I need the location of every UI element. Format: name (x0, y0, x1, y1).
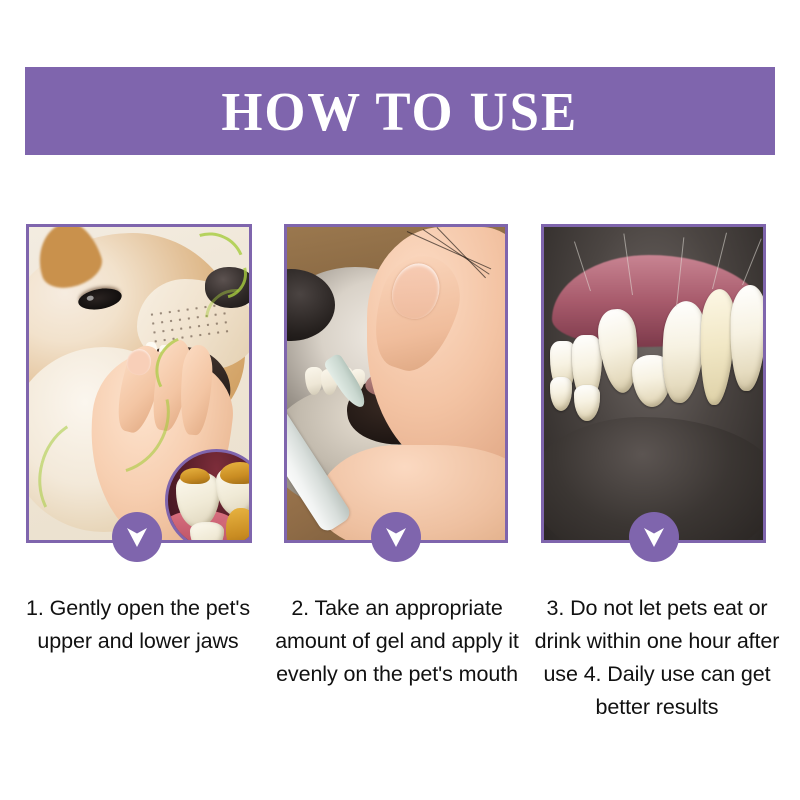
inset-tartar (220, 462, 249, 484)
chevron-down-icon (124, 524, 150, 550)
step-1-caption: 1. Gently open the pet's upper and lower… (18, 592, 258, 658)
inset-tartar (226, 508, 249, 540)
step-2-photo (287, 227, 505, 540)
chevron-down-icon (641, 524, 667, 550)
inset-tooth (190, 522, 224, 540)
steps-image-row (0, 224, 800, 554)
step-3-photo (544, 227, 763, 540)
dog-tooth (574, 385, 600, 421)
step-2-caption: 2. Take an appropriate amount of gel and… (272, 592, 522, 691)
dog-tooth (550, 377, 572, 411)
dog-nose (205, 267, 249, 308)
step-3-caption: 3. Do not let pets eat or drink within o… (528, 592, 786, 724)
step-1-badge (112, 512, 162, 562)
step-2-photo-panel (284, 224, 508, 543)
chevron-down-icon (383, 524, 409, 550)
step-3-badge (629, 512, 679, 562)
muzzle-hair (742, 238, 762, 285)
dog-tooth (728, 284, 763, 391)
inset-tartar (180, 468, 210, 484)
step-1-photo-panel (26, 224, 252, 543)
page-title: HOW TO USE (222, 84, 579, 139)
step-1-photo (29, 227, 249, 540)
step-3-photo-panel (541, 224, 766, 543)
header-banner: HOW TO USE (25, 67, 775, 155)
step-2-badge (371, 512, 421, 562)
